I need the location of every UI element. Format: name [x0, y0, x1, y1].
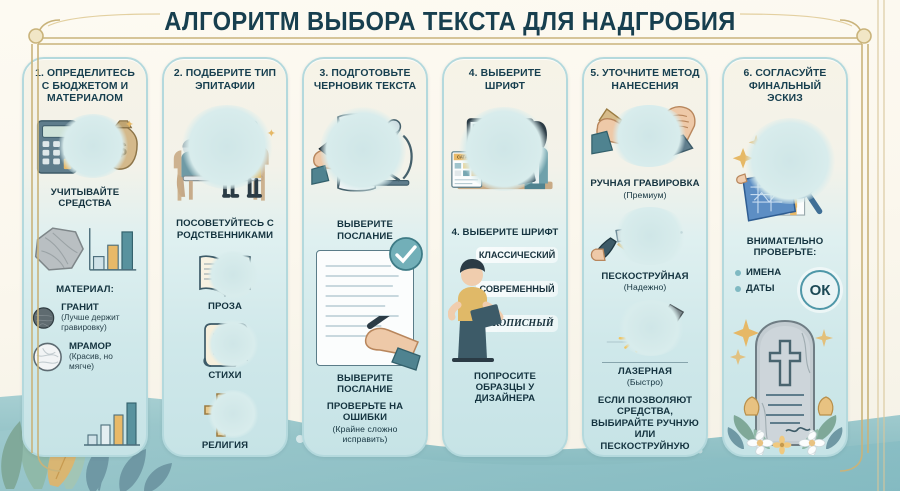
step-card-5[interactable]: 5. УТОЧНИТЕ МЕТОД НАНЕСЕНИЯ РУЧНАЯ ГРАВИ	[582, 57, 708, 457]
stone-and-chart-illustration	[30, 218, 140, 280]
step-5-caption-1: ЕСЛИ ПОЗВОЛЯЮТ СРЕДСТВА, ВЫБИРАЙТЕ РУЧНУ…	[590, 395, 700, 453]
step-card-4[interactable]: 4. ВЫБЕРИТЕ ШРИФТ A Aa Aa Aa Af	[442, 57, 568, 457]
engineer-blueprint-illustration	[730, 116, 840, 234]
steps-row: 1. ОПРЕДЕЛИТЕСЬ С БЮДЖЕТОМ И МАТЕРИАЛОМ	[22, 57, 878, 457]
page-title: АЛГОРИТМ ВЫБОРА ТЕКСТА ДЛЯ НАДГРОБИЯ	[32, 8, 869, 37]
draft-writing-illustration	[310, 101, 420, 219]
tombstone-illustration	[724, 303, 846, 455]
designer-man-icon	[448, 255, 506, 365]
granite-swatch	[32, 302, 55, 334]
divider	[602, 362, 688, 363]
step-card-6[interactable]: 6. СОГЛАСУЙТЕ ФИНАЛЬНЫЙ ЭСКИЗ	[722, 57, 848, 457]
material-item-marble[interactable]: МРАМОР (Красив, но мягче)	[32, 341, 138, 373]
family-meeting-illustration: ✦	[170, 101, 280, 213]
step-4-caption-2: ПОПРОСИТЕ ОБРАЗЦЫ У ДИЗАЙНЕРА	[450, 371, 560, 405]
material-item-granite[interactable]: ГРАНИТ (Лучше держит гравировку)	[32, 302, 138, 334]
step-5-method-1-note: (Премиум)	[590, 190, 700, 200]
marble-swatch	[32, 341, 63, 373]
step-2-type-1-label: ПРОЗА	[170, 301, 280, 312]
step-4-heading: 4. ВЫБЕРИТЕ ШРИФТ	[450, 68, 560, 93]
granite-note: (Лучше держит гравировку)	[61, 313, 138, 333]
hand-engraving-illustration	[590, 99, 700, 175]
step-5-heading: 5. УТОЧНИТЕ МЕТОД НАНЕСЕНИЯ	[590, 68, 700, 93]
bar-chart-icon	[90, 228, 136, 270]
marble-note: (Красив, но мягче)	[69, 352, 138, 372]
prose-illustration	[170, 249, 280, 301]
calculator-money-illustration: $ $ ✦	[30, 110, 140, 182]
step-2-heading: 2. ПОДБЕРИТЕ ТИП ЭПИТАФИИ	[170, 68, 280, 93]
font-selection-illustration: A Aa Aa Aa Af CATALOG	[450, 103, 560, 223]
step-card-3[interactable]: 3. ПОДГОТОВЬТЕ ЧЕРНОВИК ТЕКСТА	[302, 57, 428, 457]
step-5-method-2-label: ПЕСКОСТРУЙНАЯ	[590, 271, 700, 282]
step-1-caption-1: УЧИТЫВАЙТЕ СРЕДСТВА	[30, 187, 140, 210]
step-3-heading: 3. ПОДГОТОВЬТЕ ЧЕРНОВИК ТЕКСТА	[310, 68, 420, 93]
step-3-caption-3: ПРОВЕРЬТЕ НА ОШИБКИ	[310, 401, 420, 424]
sparkle-icon: ✦	[125, 118, 134, 131]
step-1-heading: 1. ОПРЕДЕЛИТЕСЬ С БЮДЖЕТОМ И МАТЕРИАЛОМ	[30, 68, 140, 106]
check-circle-icon	[386, 234, 426, 274]
step-5-method-2-note: (Надежно)	[590, 282, 700, 292]
laser-illustration	[590, 298, 700, 358]
tombstone-icon	[756, 321, 814, 445]
step-6-caption-1: ВНИМАТЕЛЬНО ПРОВЕРЬТЕ:	[730, 236, 840, 259]
step-5-method-3-label: ЛАЗЕРНАЯ	[590, 366, 700, 377]
ok-stamp-icon: ОК	[800, 270, 840, 310]
step-card-2[interactable]: 2. ПОДБЕРИТЕ ТИП ЭПИТАФИИ	[162, 57, 288, 457]
poetry-illustration	[170, 318, 280, 370]
step-2-type-2-label: СТИХИ	[170, 370, 280, 381]
step-5-method-3-note: (Быстро)	[590, 377, 700, 387]
hand-writing-icon-2	[362, 316, 428, 374]
step-2-caption-1: ПОСОВЕТУЙТЕСЬ С РОДСТВЕННИКАМИ	[170, 218, 280, 241]
sandblast-illustration	[590, 205, 700, 271]
religion-illustration	[170, 388, 280, 440]
step-2-type-3-label: РЕЛИГИЯ	[170, 440, 280, 451]
step-4-caption-1: 4. ВЫБЕРИТЕ ШРИФТ	[450, 227, 560, 238]
step-3-caption-2: ВЫВЕРИТЕ ПОСЛАНИЕ	[310, 373, 420, 396]
stone-slab-icon	[36, 228, 83, 270]
step-6-heading: 6. СОГЛАСУЙТЕ ФИНАЛЬНЫЙ ЭСКИЗ	[730, 68, 840, 106]
step-card-1[interactable]: 1. ОПРЕДЕЛИТЕСЬ С БЮДЖЕТОМ И МАТЕРИАЛОМ	[22, 57, 148, 457]
step-1-caption-2: МАТЕРИАЛ:	[30, 284, 140, 295]
step-5-method-1-label: РУЧНАЯ ГРАВИРОВКА	[590, 178, 700, 189]
step-3-note: (Крайне сложно исправить)	[310, 424, 420, 445]
bar-chart-icon-secondary	[78, 395, 142, 451]
sparkle-icon: ✦	[267, 127, 276, 140]
